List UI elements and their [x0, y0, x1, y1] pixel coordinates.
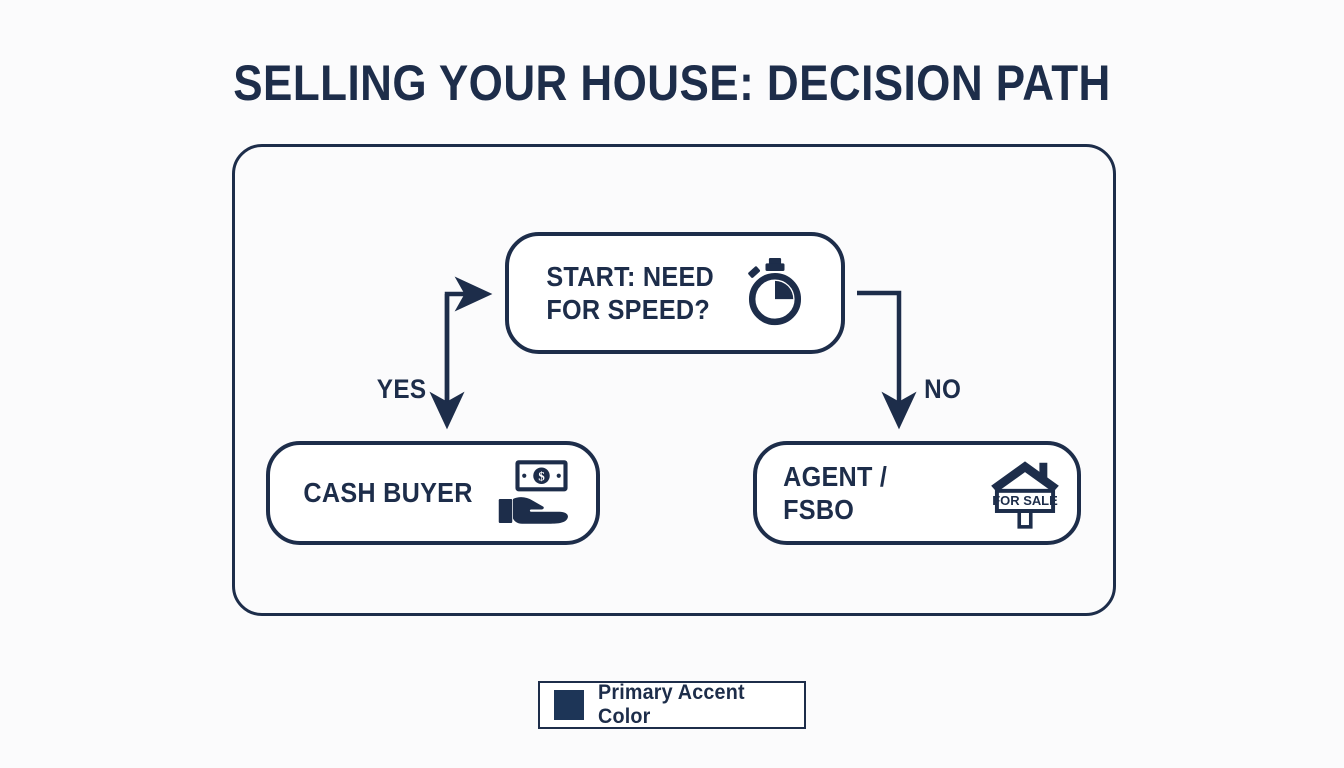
page-title: SELLING YOUR HOUSE: DECISION PATH — [81, 54, 1264, 112]
edge-label-no: NO — [924, 374, 961, 405]
legend-label: Primary Accent Color — [598, 681, 792, 729]
legend-color-swatch — [554, 690, 584, 720]
house-for-sale-sign-icon: FOR SALE — [989, 457, 1061, 529]
node-agent-label: AGENT / FSBO — [783, 460, 965, 526]
node-start-label: START: NEED FOR SPEED? — [546, 260, 714, 326]
cash-in-hand-icon: $ — [496, 460, 572, 526]
for-sale-sign-text: FOR SALE — [992, 493, 1058, 508]
node-agent-fsbo[interactable]: AGENT / FSBO FOR SALE — [753, 441, 1081, 545]
node-cash-buyer[interactable]: CASH BUYER $ — [266, 441, 600, 545]
node-cash-label: CASH BUYER — [303, 476, 472, 509]
node-start-need-for-speed[interactable]: START: NEED FOR SPEED? — [505, 232, 845, 354]
edge-label-yes: YES — [377, 374, 427, 405]
legend: Primary Accent Color — [538, 681, 806, 729]
diagram-frame — [232, 144, 1116, 616]
stopwatch-icon — [737, 255, 813, 331]
svg-text:$: $ — [538, 470, 545, 484]
